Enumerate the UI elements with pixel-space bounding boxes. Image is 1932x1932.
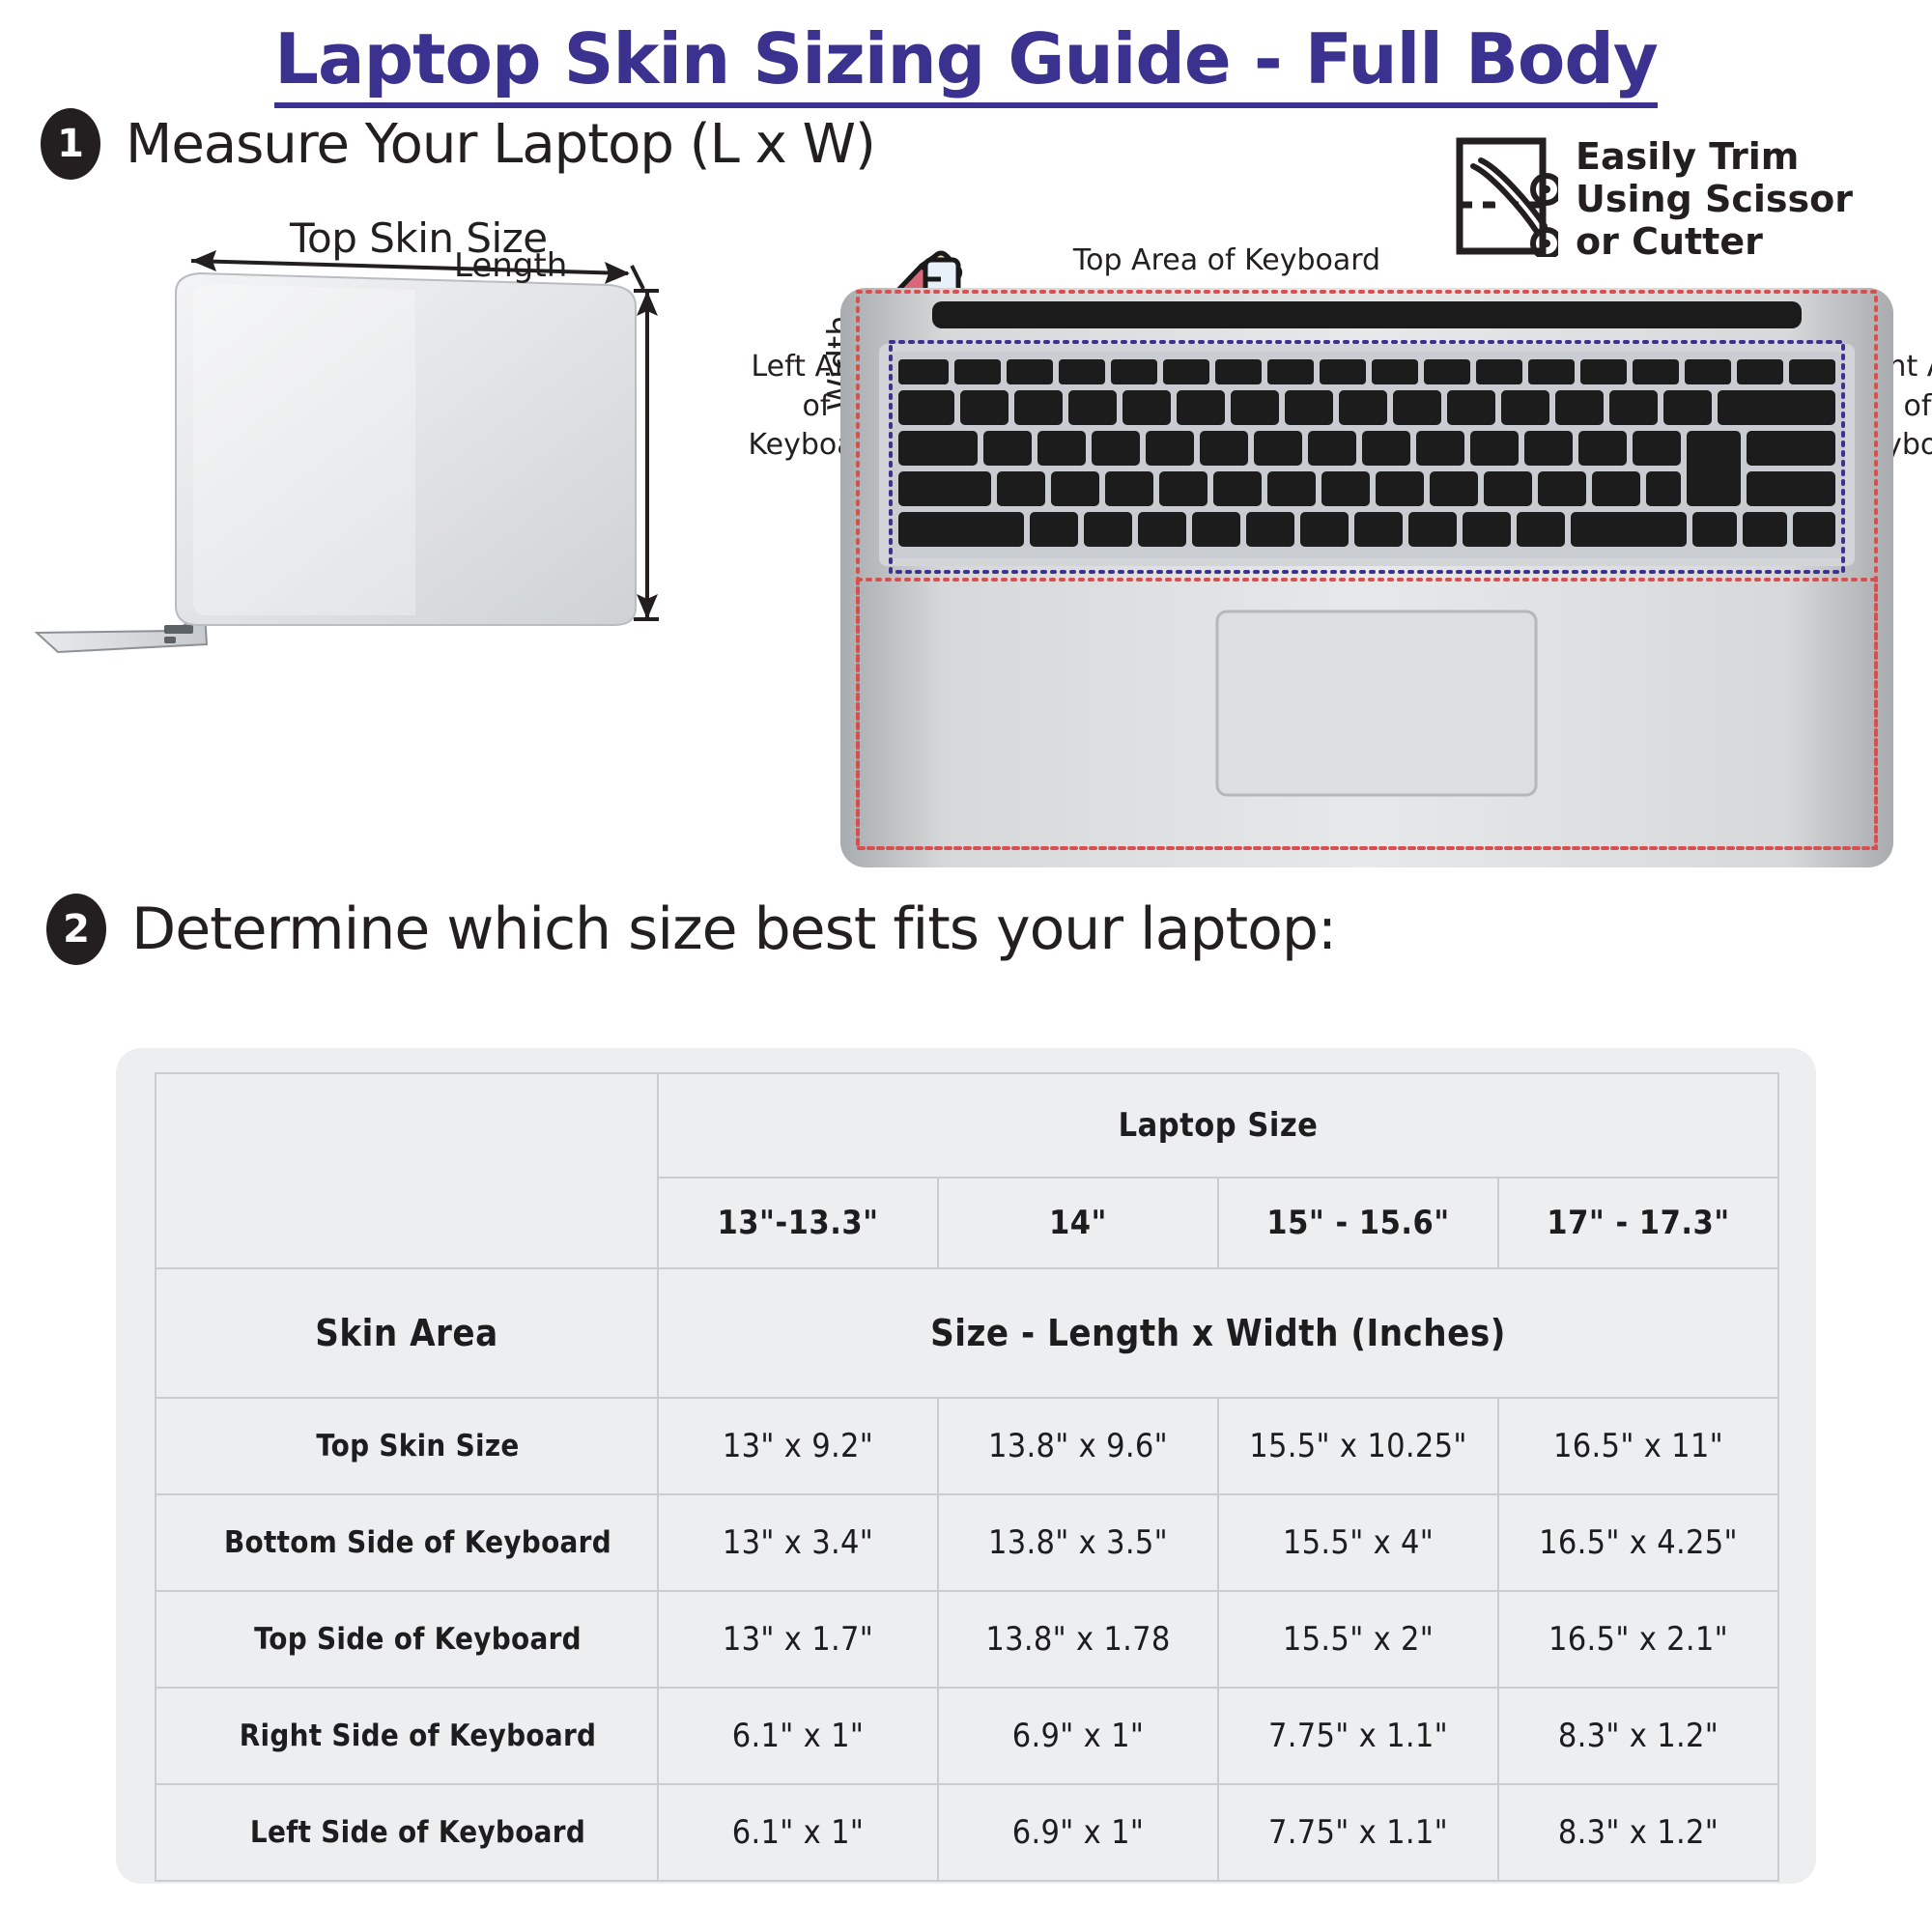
table-row-group-header: Laptop Size [156, 1073, 1778, 1178]
keyboard-top-area-label: Top Area of Keyboard [976, 241, 1478, 281]
cell-r4c1: 6.9" x 1" [938, 1784, 1218, 1881]
trim-line-2: Using Scissor [1576, 178, 1853, 220]
cell-r1c3: 16.5" x 4.25" [1498, 1494, 1778, 1591]
sizing-guide-page: Laptop Skin Sizing Guide - Full Body 1 M… [0, 0, 1932, 1932]
row-label-left-side-of-keyboard: Left Side of Keyboard [156, 1784, 658, 1881]
cell-r4c0: 6.1" x 1" [658, 1784, 938, 1881]
row-label-right-side-of-keyboard: Right Side of Keyboard [156, 1688, 658, 1784]
cell-r0c3: 16.5" x 11" [1498, 1398, 1778, 1494]
cell-r3c0: 6.1" x 1" [658, 1688, 938, 1784]
row-label-top-side-of-keyboard: Top Side of Keyboard [156, 1591, 658, 1688]
step-1-heading: Measure Your Laptop (L x W) [126, 113, 875, 176]
size-col-header-2: 15" - 15.6" [1218, 1178, 1498, 1268]
table-row: Bottom Side of Keyboard 13" x 3.4" 13.8"… [156, 1494, 1778, 1591]
sizing-table-panel: Laptop Size 13"-13.3" 14" 15" - 15.6" 17… [116, 1048, 1816, 1884]
step-1-header: 1 Measure Your Laptop (L x W) [41, 108, 875, 180]
step-1-badge: 1 [41, 108, 100, 180]
keyboard-areas-diagram: Top Area of Keyboard Bottom Area of Keyb… [831, 241, 1903, 879]
page-title-wrap: Laptop Skin Sizing Guide - Full Body [0, 23, 1932, 108]
cell-r1c0: 13" x 3.4" [658, 1494, 938, 1591]
size-col-header-0: 13"-13.3" [658, 1178, 938, 1268]
cell-r1c2: 15.5" x 4" [1218, 1494, 1498, 1591]
size-col-header-1: 14" [938, 1178, 1218, 1268]
cell-r2c1: 13.8" x 1.78 [938, 1591, 1218, 1688]
table-row: Top Side of Keyboard 13" x 1.7" 13.8" x … [156, 1591, 1778, 1688]
laptop-size-group-header: Laptop Size [658, 1073, 1778, 1178]
length-dimension-label: Length [454, 246, 567, 285]
cell-r3c3: 8.3" x 1.2" [1498, 1688, 1778, 1784]
sizing-table: Laptop Size 13"-13.3" 14" 15" - 15.6" 17… [155, 1072, 1779, 1882]
size-col-header-3: 17" - 17.3" [1498, 1178, 1778, 1268]
table-row: Right Side of Keyboard 6.1" x 1" 6.9" x … [156, 1688, 1778, 1784]
cell-r0c0: 13" x 9.2" [658, 1398, 938, 1494]
row-label-top-skin-size: Top Skin Size [156, 1398, 658, 1494]
trim-line-1: Easily Trim [1576, 135, 1853, 178]
step-2-badge: 2 [46, 894, 106, 965]
keyboard-svg [831, 278, 1903, 916]
cell-r4c3: 8.3" x 1.2" [1498, 1784, 1778, 1881]
table-row: Left Side of Keyboard 6.1" x 1" 6.9" x 1… [156, 1784, 1778, 1881]
cell-r2c0: 13" x 1.7" [658, 1591, 938, 1688]
table-corner-blank [156, 1073, 658, 1268]
cell-r0c1: 13.8" x 9.6" [938, 1398, 1218, 1494]
size-units-header: Size - Length x Width (Inches) [658, 1268, 1778, 1398]
cell-r0c2: 15.5" x 10.25" [1218, 1398, 1498, 1494]
cell-r1c1: 13.8" x 3.5" [938, 1494, 1218, 1591]
cell-r2c2: 15.5" x 2" [1218, 1591, 1498, 1688]
table-row-skin-area-header: Skin Area Size - Length x Width (Inches) [156, 1268, 1778, 1398]
step-2-heading: Determine which size best fits your lapt… [131, 895, 1336, 963]
cell-r3c2: 7.75" x 1.1" [1218, 1688, 1498, 1784]
skin-area-header: Skin Area [156, 1268, 658, 1398]
cell-r4c2: 7.75" x 1.1" [1218, 1784, 1498, 1881]
row-label-bottom-side-of-keyboard: Bottom Side of Keyboard [156, 1494, 658, 1591]
step-2-header: 2 Determine which size best fits your la… [46, 894, 1336, 965]
page-title: Laptop Skin Sizing Guide - Full Body [274, 23, 1658, 108]
table-row: Top Skin Size 13" x 9.2" 13.8" x 9.6" 15… [156, 1398, 1778, 1494]
cell-r3c1: 6.9" x 1" [938, 1688, 1218, 1784]
cell-r2c3: 16.5" x 2.1" [1498, 1591, 1778, 1688]
